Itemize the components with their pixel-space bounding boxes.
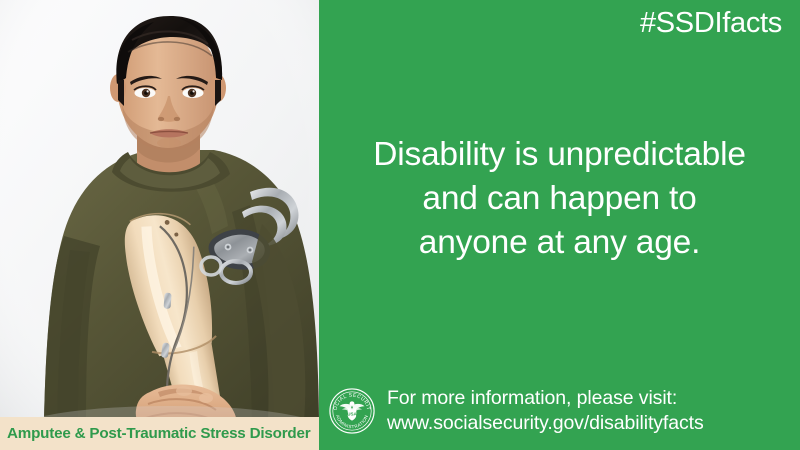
footer-url[interactable]: www.socialsecurity.gov/disabilityfacts bbox=[387, 411, 704, 436]
headline-line-2: and can happen to bbox=[333, 177, 786, 221]
photo-panel: Amputee & Post-Traumatic Stress Disorder bbox=[0, 0, 319, 450]
photo-caption-text: Amputee & Post-Traumatic Stress Disorder bbox=[7, 425, 310, 442]
seal-center-text: USA bbox=[347, 411, 357, 416]
footer: SOCIAL SECURITY ADMINISTRATION USA For m… bbox=[328, 386, 704, 436]
footer-text: For more information, please visit: www.… bbox=[387, 386, 704, 436]
headline-line-3: anyone at any age. bbox=[333, 221, 786, 265]
green-content-panel: #SSDIfacts Disability is unpredictable a… bbox=[319, 0, 800, 450]
headline-line-1: Disability is unpredictable bbox=[333, 133, 786, 177]
ssdi-facts-poster: Amputee & Post-Traumatic Stress Disorder… bbox=[0, 0, 800, 450]
photo-caption-bar: Amputee & Post-Traumatic Stress Disorder bbox=[0, 417, 319, 450]
hashtag-label: #SSDIfacts bbox=[640, 7, 782, 40]
footer-prompt: For more information, please visit: bbox=[387, 386, 704, 411]
ssa-seal-icon: SOCIAL SECURITY ADMINISTRATION USA bbox=[328, 387, 376, 435]
amputee-portrait-photo bbox=[0, 0, 319, 450]
headline: Disability is unpredictable and can happ… bbox=[333, 133, 786, 265]
